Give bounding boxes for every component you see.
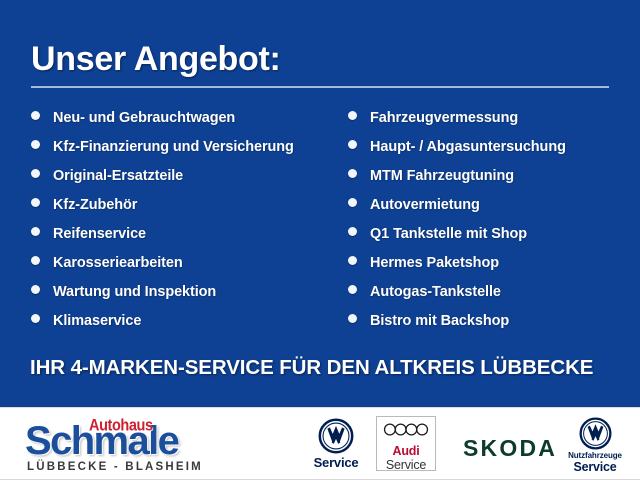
brand-logo-vw-nutzfahrzeuge: Nutzfahrzeuge Service xyxy=(556,417,634,474)
bullet-dot-icon xyxy=(31,285,40,294)
vw-logo-icon xyxy=(318,418,354,454)
bullet-dot-icon xyxy=(31,140,40,149)
bullet-dot-icon xyxy=(348,314,357,323)
list-item: Autovermietung xyxy=(348,197,640,226)
dealer-logo-location: LÜBBECKE - BLASHEIM xyxy=(27,461,203,473)
offer-label: Reifenservice xyxy=(53,226,146,242)
logo-footer: Schmale Autohaus LÜBBECKE - BLASHEIM Ser… xyxy=(0,407,640,480)
bullet-dot-icon xyxy=(31,314,40,323)
offer-list-left: Neu- und Gebrauchtwagen Kfz-Finanzierung… xyxy=(31,110,341,342)
brand-logo-skoda: SKODA xyxy=(463,435,557,462)
brand-label: Service xyxy=(377,458,435,472)
bullet-dot-icon xyxy=(348,140,357,149)
bullet-dot-icon xyxy=(348,256,357,265)
offer-label: Autogas-Tankstelle xyxy=(370,284,501,300)
offer-label: Autovermietung xyxy=(370,197,480,213)
offer-label: Original-Ersatzteile xyxy=(53,168,183,184)
list-item: Bistro mit Backshop xyxy=(348,313,640,342)
bullet-dot-icon xyxy=(31,198,40,207)
brand-label: Service xyxy=(300,455,372,470)
offer-list-right: Fahrzeugvermessung Haupt- / Abgasuntersu… xyxy=(348,110,640,342)
offer-label: Hermes Paketshop xyxy=(370,255,499,271)
list-item: Hermes Paketshop xyxy=(348,255,640,284)
list-item: Original-Ersatzteile xyxy=(31,168,341,197)
bullet-dot-icon xyxy=(348,111,357,120)
offer-label: Fahrzeugvermessung xyxy=(370,110,518,126)
offer-label: Haupt- / Abgasuntersuchung xyxy=(370,139,566,155)
list-item: Reifenservice xyxy=(31,226,341,255)
offer-label: Kfz-Zubehör xyxy=(53,197,137,213)
brand-logo-audi: Audi Service xyxy=(376,416,436,471)
dealer-logo-autohaus-label: Autohaus xyxy=(89,417,153,435)
vw-logo-icon xyxy=(579,417,612,450)
offer-label: Karosseriearbeiten xyxy=(53,255,183,271)
brand-label: Service xyxy=(556,460,634,474)
offer-label: Neu- und Gebrauchtwagen xyxy=(53,110,235,126)
advert-banner: Unser Angebot: Neu- und Gebrauchtwagen K… xyxy=(0,0,640,480)
offer-label: Klimaservice xyxy=(53,313,141,329)
bullet-dot-icon xyxy=(348,227,357,236)
bullet-dot-icon xyxy=(31,227,40,236)
dealer-logo: Schmale Autohaus LÜBBECKE - BLASHEIM xyxy=(25,417,220,473)
offer-label: Bistro mit Backshop xyxy=(370,313,509,329)
brand-sublabel: Nutzfahrzeuge xyxy=(556,451,634,460)
offer-label: MTM Fahrzeugtuning xyxy=(370,168,514,184)
title-divider xyxy=(31,86,609,88)
offer-label: Kfz-Finanzierung und Versicherung xyxy=(53,139,294,155)
offer-label: Q1 Tankstelle mit Shop xyxy=(370,226,527,242)
bullet-dot-icon xyxy=(348,198,357,207)
list-item: Wartung und Inspektion xyxy=(31,284,341,313)
tagline: IHR 4-MARKEN-SERVICE FÜR DEN ALTKREIS LÜ… xyxy=(30,356,593,380)
bullet-dot-icon xyxy=(348,169,357,178)
page-title: Unser Angebot: xyxy=(31,38,281,80)
list-item: Neu- und Gebrauchtwagen xyxy=(31,110,341,139)
audi-rings-icon xyxy=(383,423,429,436)
brand-name: Audi xyxy=(377,445,435,458)
list-item: Karosseriearbeiten xyxy=(31,255,341,284)
bullet-dot-icon xyxy=(31,111,40,120)
list-item: MTM Fahrzeugtuning xyxy=(348,168,640,197)
bullet-dot-icon xyxy=(31,256,40,265)
brand-logo-volkswagen: Service xyxy=(300,418,372,470)
list-item: Haupt- / Abgasuntersuchung xyxy=(348,139,640,168)
list-item: Fahrzeugvermessung xyxy=(348,110,640,139)
list-item: Q1 Tankstelle mit Shop xyxy=(348,226,640,255)
offer-label: Wartung und Inspektion xyxy=(53,284,216,300)
list-item: Kfz-Zubehör xyxy=(31,197,341,226)
list-item: Autogas-Tankstelle xyxy=(348,284,640,313)
bullet-dot-icon xyxy=(31,169,40,178)
list-item: Kfz-Finanzierung und Versicherung xyxy=(31,139,341,168)
list-item: Klimaservice xyxy=(31,313,341,342)
bullet-dot-icon xyxy=(348,285,357,294)
